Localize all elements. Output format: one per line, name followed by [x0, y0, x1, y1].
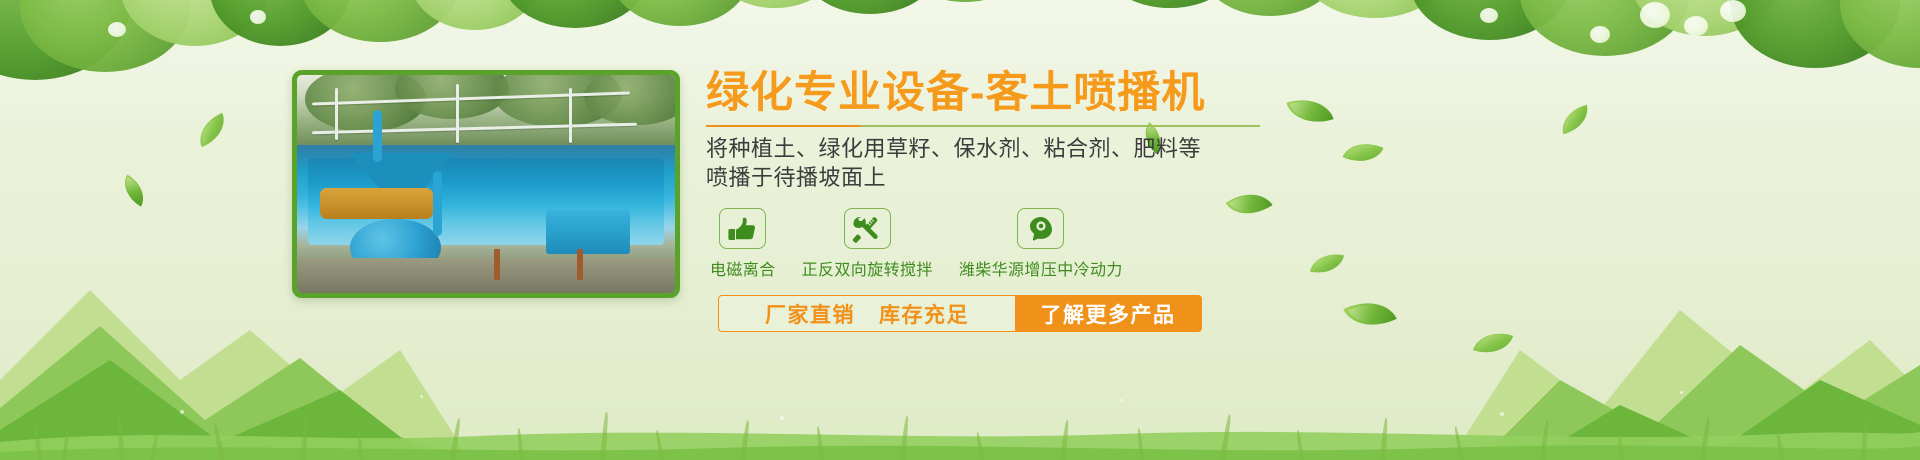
feature-item-electromagnetic-clutch: 电磁离合	[710, 208, 776, 280]
engine-gear-icon	[1026, 215, 1056, 242]
cta-bar: 厂家直销 库存充足 了解更多产品	[718, 295, 1202, 332]
feature-label: 正反双向旋转搅拌	[802, 256, 933, 280]
title-divider	[706, 125, 1260, 127]
feature-icon-frame	[1017, 208, 1064, 249]
feature-item-bidirectional-mixing: 正反双向旋转搅拌	[802, 208, 933, 280]
feature-icon-frame	[719, 208, 766, 249]
feature-icon-frame	[844, 208, 891, 249]
subtitle-line-2: 喷播于待播坡面上	[706, 163, 1326, 192]
banner-content: 绿化专业设备-客土喷播机 将种植土、绿化用草籽、保水剂、粘合剂、肥料等 喷播于待…	[706, 68, 1326, 332]
feature-label: 电磁离合	[710, 256, 776, 280]
feature-item-weichai-power: 潍柴华源增压中冷动力	[959, 208, 1123, 280]
promo-banner: 绿化专业设备-客土喷播机 将种植土、绿化用草籽、保水剂、粘合剂、肥料等 喷播于待…	[0, 0, 1920, 460]
cta-slogans: 厂家直销 库存充足	[719, 296, 1015, 331]
subtitle-line-1: 将种植土、绿化用草籽、保水剂、粘合剂、肥料等	[706, 134, 1326, 163]
wrench-screwdriver-icon	[852, 215, 882, 243]
cta-slogan-1: 厂家直销	[765, 299, 855, 329]
grass-decoration	[0, 310, 1920, 460]
feature-list: 电磁离合 正反双向旋转搅拌	[706, 208, 1326, 280]
thumbs-up-icon	[728, 216, 758, 242]
cta-slogan-2: 库存充足	[879, 299, 969, 329]
learn-more-button[interactable]: 了解更多产品	[1015, 296, 1201, 331]
page-title: 绿化专业设备-客土喷播机	[706, 68, 1326, 118]
feature-label: 潍柴华源增压中冷动力	[959, 256, 1123, 280]
product-photo	[292, 70, 680, 298]
